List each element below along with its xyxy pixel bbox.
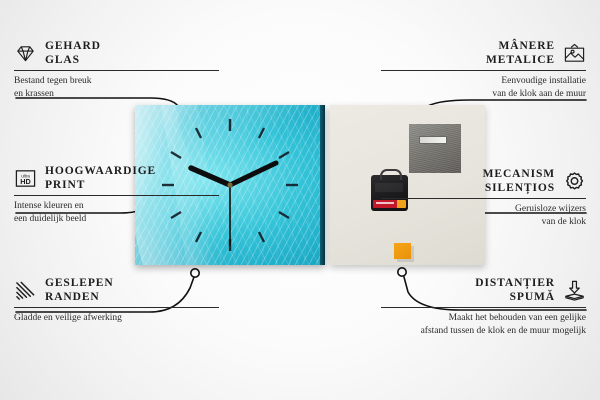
feature-hoogwaardige-print: ultra HD HOOGWAARDIGE PRINT Intense kleu… [14,165,219,225]
feature-description: Maakt het behouden van een gelijke afsta… [361,312,586,337]
clock-minute-hand [230,163,276,185]
foam-spacer [394,243,411,259]
diamond-icon [14,42,37,65]
divider [381,307,586,308]
feature-header: ultra HD HOOGWAARDIGE PRINT [14,165,219,192]
feature-description: Bestand tegen breuk en krassen [14,75,219,100]
feature-header: MECANISM SILENȚIOS [381,168,586,195]
picture-frame-hanger-icon [563,42,586,65]
gear-icon [563,170,586,193]
feature-header: GESLEPEN RANDEN [14,277,219,304]
feature-description: Gladde en veilige afwerking [14,312,219,325]
feature-title: HOOGWAARDIGE PRINT [45,165,156,192]
feature-title: MÂNERE METALICE [486,40,555,67]
feature-mecanism-silentios: MECANISM SILENȚIOS Geruisloze wijzers va… [381,168,586,228]
divider [14,307,219,308]
feature-manere-metalice: MÂNERE METALICE Eenvoudige installatie v… [381,40,586,100]
feature-title: MECANISM SILENȚIOS [483,168,555,195]
feature-description: Eenvoudige installatie van de klok aan d… [381,75,586,100]
feature-header: MÂNERE METALICE [381,40,586,67]
feature-gehard-glas: GEHARD GLAS Bestand tegen breuk en krass… [14,40,219,100]
divider [14,70,219,71]
leader-endpoint-distantier [398,268,406,276]
clock-side-edge [320,105,325,265]
feature-header: GEHARD GLAS [14,40,219,67]
infographic-canvas: GEHARD GLAS Bestand tegen breuk en krass… [0,0,600,400]
feature-description: Geruisloze wijzers van de klok [381,203,586,228]
metal-hanger-plate [409,124,461,173]
divider [381,70,586,71]
clock-center-cap [227,182,232,187]
feature-description: Intense kleuren en een duidelijk beeld [14,200,219,225]
hanger-slot [419,136,447,144]
svg-text:HD: HD [20,177,31,186]
leader-endpoint-geslepen-randen [191,269,199,277]
ultra-hd-icon: ultra HD [14,167,37,190]
feature-distantier-spuma: DISTANȚIER SPUMĂ Maakt het behouden van … [381,277,586,337]
feature-title: GEHARD GLAS [45,40,101,67]
divider [14,195,219,196]
feature-title: DISTANȚIER SPUMĂ [475,277,555,304]
feature-header: DISTANȚIER SPUMĂ [381,277,586,304]
feature-title: GESLEPEN RANDEN [45,277,114,304]
feature-geslepen-randen: GESLEPEN RANDEN Gladde en veilige afwerk… [14,277,219,325]
diagonal-lines-icon [14,279,37,302]
arrow-down-stack-icon [563,279,586,302]
divider [381,198,586,199]
